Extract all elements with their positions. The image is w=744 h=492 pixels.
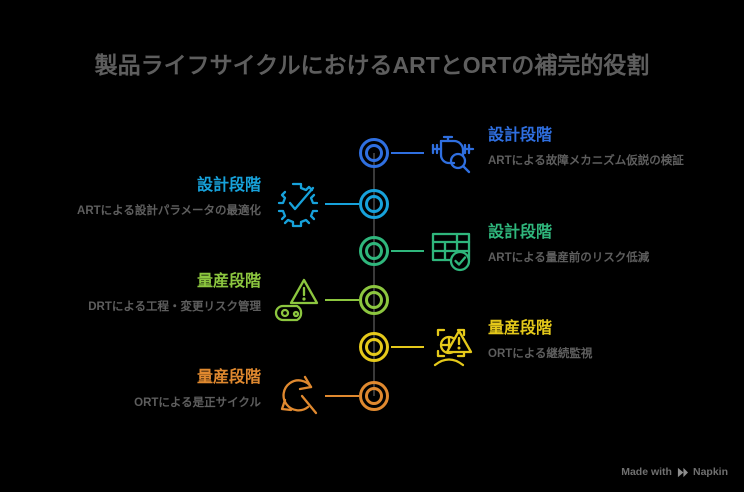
table-check-icon: [424, 223, 478, 277]
diagram-canvas: 製品ライフサイクルにおけるARTとORTの補完的役割 設計段階 ARTによる故障…: [0, 0, 744, 492]
stage-label: 量産段階: [488, 319, 592, 339]
connector-node-4: [325, 299, 359, 301]
stage-description: DRTによる工程・変更リスク管理: [88, 299, 261, 316]
gear-check-icon: [271, 176, 325, 230]
connector-node-1: [391, 152, 424, 154]
connector-node-6: [325, 395, 359, 397]
connector-node-2: [325, 203, 359, 205]
stage-description: ORTによる継続監視: [488, 346, 592, 363]
stage-label: 設計段階: [488, 126, 684, 146]
monitor-alert-icon: [424, 319, 478, 373]
timeline-item-5[interactable]: 量産段階 ORTによる継続監視: [424, 319, 592, 373]
timeline-node-1[interactable]: [359, 138, 389, 168]
engine-magnifier-icon: [424, 126, 478, 180]
stage-label: 量産段階: [88, 272, 261, 292]
timeline-node-6[interactable]: [359, 381, 389, 411]
conveyor-warning-icon: [271, 272, 325, 326]
stage-description: ARTによる設計パラメータの最適化: [77, 203, 261, 220]
timeline-item-1[interactable]: 設計段階 ARTによる故障メカニズム仮説の検証: [424, 126, 684, 180]
watermark-prefix: Made with: [621, 466, 672, 478]
timeline-node-2[interactable]: [359, 189, 389, 219]
timeline-item-4[interactable]: 量産段階 DRTによる工程・変更リスク管理: [10, 272, 325, 326]
timeline-node-5[interactable]: [359, 332, 389, 362]
stage-description: ARTによる故障メカニズム仮説の検証: [488, 153, 684, 170]
stage-label: 設計段階: [488, 223, 649, 243]
timeline-item-3[interactable]: 設計段階 ARTによる量産前のリスク低減: [424, 223, 649, 277]
napkin-watermark: Made with Napkin: [621, 466, 728, 478]
stage-label: 量産段階: [134, 368, 261, 388]
timeline-item-2[interactable]: 設計段階 ARTによる設計パラメータの最適化: [10, 176, 325, 230]
page-title: 製品ライフサイクルにおけるARTとORTの補完的役割: [0, 46, 744, 80]
timeline-node-4[interactable]: [359, 285, 389, 315]
timeline-item-6[interactable]: 量産段階 ORTによる是正サイクル: [10, 368, 325, 422]
timeline-node-3[interactable]: [359, 236, 389, 266]
refresh-cycle-icon: [271, 368, 325, 422]
stage-description: ARTによる量産前のリスク低減: [488, 250, 649, 267]
connector-node-3: [391, 250, 424, 252]
connector-node-5: [391, 346, 424, 348]
watermark-brand: Napkin: [693, 466, 728, 478]
stage-description: ORTによる是正サイクル: [134, 395, 261, 412]
stage-label: 設計段階: [77, 176, 261, 196]
napkin-logo-icon: [677, 467, 688, 478]
